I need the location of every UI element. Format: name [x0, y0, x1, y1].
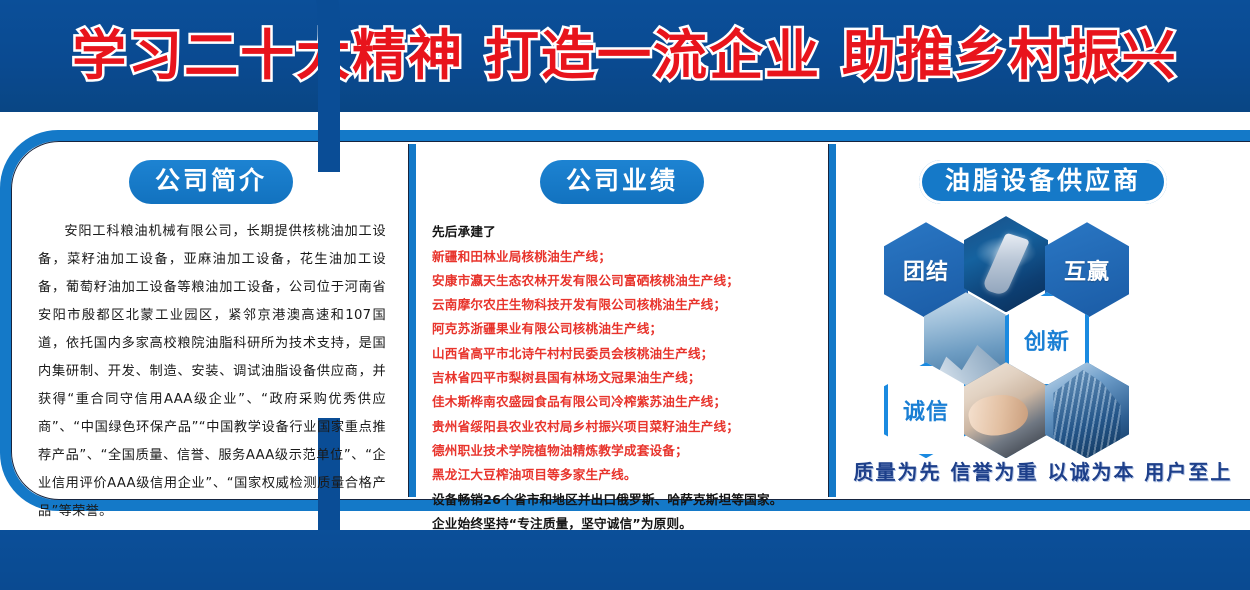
performance-project-item: 佳木斯桦南农盛园食品有限公司冷榨紫苏油生产线； [432, 390, 816, 414]
panel-row: 公司简介 安阳工科粮油机械有限公司，长期提供核桃油加工设备，菜籽油加工设备，亚麻… [14, 144, 1250, 497]
poster-header: 学习二十大精神 打造一流企业 助推乡村振兴 [0, 0, 1250, 112]
hexagon-label: 创新 [1024, 324, 1070, 356]
aircraft-carrier-icon [964, 216, 1048, 312]
hexagon-label: 互赢 [1064, 254, 1110, 286]
performance-footer: 设备畅销26个省市和地区并出口俄罗斯、哈萨克斯坦等国家。企业始终坚持“专注质量，… [432, 488, 816, 537]
poster-board: 学习二十大精神 打造一流企业 助推乡村振兴 公司简介 安阳工科粮油机械有限公司，… [0, 0, 1250, 590]
hexagon-cluster: 团结 互赢 创新 诚信 [836, 214, 1250, 446]
performance-project-item: 新疆和田林业局核桃油生产线； [432, 245, 816, 269]
column-divider-1 [408, 144, 416, 497]
hexagon-label: 团结 [903, 254, 949, 286]
performance-project-item: 黑龙江大豆榨油项目等多家生产线。 [432, 463, 816, 487]
performance-project-item: 吉林省四平市梨树县国有林场文冠果油生产线； [432, 366, 816, 390]
panel-title-company-intro: 公司简介 [129, 160, 293, 204]
panel-title-wrap-left: 公司简介 [14, 160, 408, 204]
panel-title-wrap-right: 油脂设备供应商 [836, 160, 1250, 204]
performance-project-item: 安康市瀛天生态农林开发有限公司富硒核桃油生产线； [432, 269, 816, 293]
panel-title-supplier: 油脂设备供应商 [919, 160, 1167, 204]
hexagon-aircraft-carrier-photo [964, 216, 1048, 312]
column-divider-2 [828, 144, 836, 497]
panel-supplier: 油脂设备供应商 团结 互赢 创新 诚信 质量为先 信誉为重 以诚为本 用户至上 [836, 144, 1250, 497]
performance-lead: 先后承建了 [432, 220, 816, 244]
performance-project-item: 贵州省绥阳县农业农村局乡村振兴项目菜籽油生产线； [432, 415, 816, 439]
panel-company-intro: 公司简介 安阳工科粮油机械有限公司，长期提供核桃油加工设备，菜籽油加工设备，亚麻… [14, 144, 408, 497]
performance-footer-line: 设备畅销26个省市和地区并出口俄罗斯、哈萨克斯坦等国家。 [432, 488, 816, 512]
performance-project-item: 德州职业技术学院植物油精炼教学成套设备； [432, 439, 816, 463]
performance-project-item: 阿克苏浙疆果业有限公司核桃油生产线； [432, 317, 816, 341]
headline-text: 学习二十大精神 打造一流企业 助推乡村振兴 [72, 29, 1178, 83]
panel-title-wrap-mid: 公司业绩 [416, 160, 828, 204]
performance-project-item: 山西省高平市北诗午村村民委员会核桃油生产线； [432, 342, 816, 366]
performance-project-item: 云南摩尔农庄生物科技开发有限公司核桃油生产线； [432, 293, 816, 317]
performance-body: 先后承建了 新疆和田林业局核桃油生产线；安康市瀛天生态农林开发有限公司富硒核桃油… [432, 220, 816, 536]
company-intro-body: 安阳工科粮油机械有限公司，长期提供核桃油加工设备，菜籽油加工设备，亚麻油加工设备… [38, 218, 386, 526]
supplier-slogan: 质量为先 信誉为重 以诚为本 用户至上 [836, 456, 1250, 485]
poster-footer-band [0, 530, 1250, 590]
panel-company-performance: 公司业绩 先后承建了 新疆和田林业局核桃油生产线；安康市瀛天生态农林开发有限公司… [416, 144, 828, 497]
panel-title-company-performance: 公司业绩 [540, 160, 704, 204]
hexagon-label: 诚信 [903, 394, 949, 426]
performance-project-list: 新疆和田林业局核桃油生产线；安康市瀛天生态农林开发有限公司富硒核桃油生产线；云南… [432, 245, 816, 488]
